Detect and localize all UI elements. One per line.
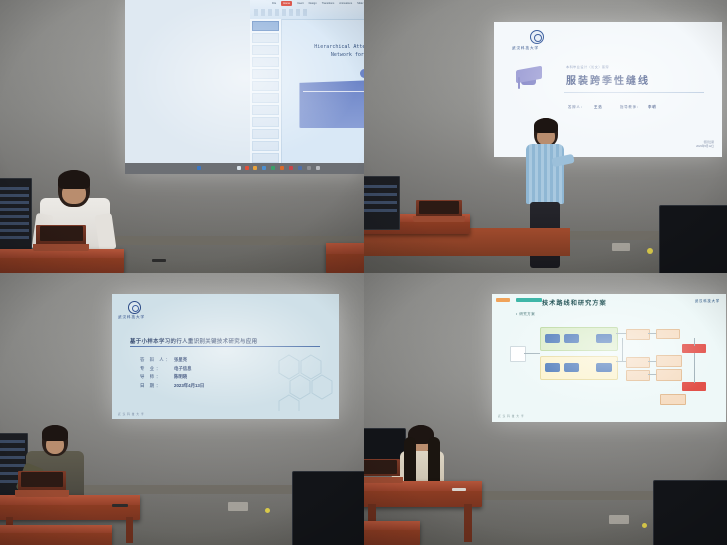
stage-group-green xyxy=(540,327,618,351)
laptop-base xyxy=(33,244,89,251)
phone-on-table xyxy=(452,488,466,491)
defense-title: 基于小样本学习的行人重识别关键技术研究与应用 xyxy=(130,337,257,345)
process-box xyxy=(626,329,650,340)
highlight-box xyxy=(682,382,706,391)
taskbar-icon-pdf[interactable] xyxy=(245,166,249,170)
projection-screen: 技术路线和研究方案 武汉科技大学 • 研究方案 xyxy=(492,294,726,422)
slide-thumbnail[interactable] xyxy=(252,45,279,55)
taskbar-icon-notes[interactable] xyxy=(316,166,320,170)
ribbon-command-icons[interactable] xyxy=(254,7,364,18)
flow-node xyxy=(596,363,612,372)
slide-thumbnail[interactable] xyxy=(252,129,279,139)
panel-top-left: File Home Insert Design Transitions Anim… xyxy=(0,0,364,273)
connector xyxy=(648,374,656,375)
open-book-graphic xyxy=(299,80,364,128)
dark-cabinet xyxy=(292,471,364,545)
phone-on-table xyxy=(152,259,166,262)
server-rack xyxy=(364,176,400,230)
hair xyxy=(534,118,558,133)
photo-grid: File Home Insert Design Transitions Anim… xyxy=(0,0,727,545)
process-box xyxy=(656,369,682,381)
hair xyxy=(42,425,68,441)
slide-thumbnail[interactable] xyxy=(252,57,279,67)
dark-cabinet xyxy=(653,480,727,545)
taskbar-icon-media[interactable] xyxy=(289,166,293,170)
head xyxy=(58,170,90,207)
process-box xyxy=(626,370,650,381)
field-date: 日 期：2023年4月13日 xyxy=(140,382,204,391)
field-value: 张星亮 xyxy=(174,357,187,362)
field-advisor: 导 师：陈明晓 xyxy=(140,373,204,382)
field-major: 专 业：电子信息 xyxy=(140,365,204,374)
slide-thumbnail-pane[interactable] xyxy=(250,19,282,164)
stage-group-yellow xyxy=(540,356,618,380)
slide-thumbnail[interactable] xyxy=(252,33,279,43)
flow-node xyxy=(545,334,560,343)
presenter-name: 王浩 xyxy=(594,104,602,109)
field-value: 2023年4月13日 xyxy=(174,383,204,388)
university-name: 武汉科技大学 xyxy=(695,298,720,303)
laptop xyxy=(36,225,86,251)
field-value: 陈明晓 xyxy=(174,374,187,379)
university-crest-icon xyxy=(530,30,544,44)
projection-screen: 武汉科技大学 基于小样本学习的行人重识别关键技术研究与应用 答 辩 人：张星亮 … xyxy=(112,294,339,419)
field-label: 日 期： xyxy=(140,382,174,391)
wall-socket xyxy=(609,515,629,524)
table-leg xyxy=(126,517,133,543)
slide-thumbnail[interactable] xyxy=(252,93,279,103)
torso-blue-striped-shirt xyxy=(526,144,564,204)
ribbon-icon-replace[interactable] xyxy=(303,9,307,16)
ribbon-tab-list: File Home Insert Design Transitions Anim… xyxy=(272,1,364,6)
ribbon-tab-animations[interactable]: Animations xyxy=(339,1,352,6)
wall-socket xyxy=(228,502,248,511)
laptop xyxy=(364,459,400,483)
taskbar-icon-wechat[interactable] xyxy=(298,166,302,170)
panel-bottom-right: 技术路线和研究方案 武汉科技大学 • 研究方案 xyxy=(364,273,727,545)
connector xyxy=(616,333,626,334)
flow-node xyxy=(564,363,579,372)
presenter-label: 答辩人： xyxy=(568,104,585,109)
slide-title: 技术路线和研究方案 xyxy=(542,298,607,307)
flow-node xyxy=(564,334,579,343)
wall-socket xyxy=(612,243,630,251)
slide-footer: 武汉科技大学 xyxy=(498,414,526,418)
connector xyxy=(616,361,626,362)
taskbar-icon-explorer[interactable] xyxy=(197,166,201,170)
defense-field-list: 答 辩 人：张星亮 专 业：电子信息 导 师：陈明晓 日 期：2023年4月13… xyxy=(140,356,204,390)
projection-screen: File Home Insert Design Transitions Anim… xyxy=(125,0,364,174)
laptop-lid xyxy=(364,459,400,476)
dark-cabinet xyxy=(659,205,727,273)
process-box xyxy=(626,357,650,368)
taskbar-icon-powerpoint[interactable] xyxy=(280,166,284,170)
ribbon-tab-design[interactable]: Design xyxy=(309,1,317,6)
slide-thumbnail[interactable] xyxy=(252,21,279,31)
slide-thumbnail[interactable] xyxy=(252,141,279,151)
ribbon-tab-insert[interactable]: Insert xyxy=(297,1,304,6)
process-box xyxy=(660,394,686,405)
ribbon-tab-transitions[interactable]: Transitions xyxy=(322,1,335,6)
ribbon-tab-file[interactable]: File xyxy=(272,1,276,6)
university-name: 武汉科技大学 xyxy=(118,315,145,320)
wooden-table-right xyxy=(326,243,364,273)
slide-subtitle: • 研究方案 xyxy=(516,311,535,316)
yellow-ball xyxy=(265,508,270,513)
yellow-ball xyxy=(647,248,653,254)
taskbar-icon-edge[interactable] xyxy=(237,166,241,170)
connector xyxy=(694,353,695,383)
book-page-left xyxy=(299,80,364,128)
hexagon-decoration xyxy=(267,351,337,411)
slide-thumbnail[interactable] xyxy=(252,81,279,91)
slide-title-line-1: Hierarchical Attention-based CNN-RNN Neu… xyxy=(301,43,364,51)
ribbon-icon-newslide[interactable] xyxy=(261,9,265,16)
process-box xyxy=(656,355,682,367)
laptop-lid xyxy=(18,471,66,490)
slide-date: 答辩日期 2023年5月12日 xyxy=(696,141,714,149)
slide-thumbnail[interactable] xyxy=(252,153,279,163)
laptop-lid xyxy=(36,225,86,244)
ribbon-icon-font[interactable] xyxy=(268,9,272,16)
field-label: 专 业： xyxy=(140,365,174,374)
phone-on-table xyxy=(112,504,128,507)
university-crest-icon xyxy=(128,301,141,314)
connector xyxy=(694,338,695,346)
flowchart-slide: 技术路线和研究方案 武汉科技大学 • 研究方案 xyxy=(492,294,726,422)
connector xyxy=(648,361,656,362)
arm-right xyxy=(95,213,117,251)
ribbon-tab-home[interactable]: Home xyxy=(281,1,292,6)
laptop-lid xyxy=(416,200,462,216)
ribbon-icon-shapes[interactable] xyxy=(282,9,286,16)
server-rack xyxy=(0,178,32,254)
field-presenter: 答 辩 人：张星亮 xyxy=(140,356,204,365)
slide-canvas: 武汉科技大学 Hierarchical Attention-based CNN-… xyxy=(282,21,364,162)
wooden-table-front xyxy=(0,525,112,545)
laptop-base xyxy=(364,477,403,483)
ribbon-icon-arrange[interactable] xyxy=(289,9,293,16)
wooden-table xyxy=(0,249,124,273)
ribbon-icon-paragraph[interactable] xyxy=(275,9,279,16)
panel-top-right: 武汉科技大学 本科毕业设计（论文）答辩 服装跨季性缝线 答辩人： 王浩 指导教师… xyxy=(364,0,727,273)
laptop-base xyxy=(15,490,69,497)
hair xyxy=(58,170,90,189)
head xyxy=(534,118,558,147)
university-name: 武汉科技大学 xyxy=(512,46,539,51)
connector xyxy=(524,353,540,354)
flow-node xyxy=(545,363,560,372)
advisor-name: 李明 xyxy=(648,104,656,109)
slide-date-value: 2023年5月12日 xyxy=(696,145,714,149)
yellow-ball xyxy=(642,523,647,528)
slide-main-title: 服装跨季性缝线 xyxy=(566,72,650,87)
flow-node xyxy=(596,334,612,343)
wooden-table xyxy=(0,495,140,520)
advisor-label: 指导教师： xyxy=(620,104,641,109)
connector xyxy=(622,338,623,362)
input-box xyxy=(510,346,526,362)
slide-title-line-2: Network for Automated ICD Coding xyxy=(301,51,364,59)
slide-footer: 武汉科技大学 xyxy=(118,412,146,416)
laptop-base xyxy=(413,216,465,222)
powerpoint-window: File Home Insert Design Transitions Anim… xyxy=(250,0,364,174)
slide-thumbnail[interactable] xyxy=(252,105,279,115)
windows-taskbar[interactable] xyxy=(125,163,364,174)
table-leg xyxy=(464,504,472,542)
laptop xyxy=(416,200,462,222)
ribbon-icon-find[interactable] xyxy=(296,9,300,16)
taskbar-icon-excel[interactable] xyxy=(271,166,275,170)
title-underline xyxy=(130,346,320,347)
field-value: 电子信息 xyxy=(174,366,192,371)
laptop xyxy=(18,471,66,497)
section-tag-bar xyxy=(496,298,544,303)
field-label: 答 辩 人： xyxy=(140,356,174,365)
field-label: 导 师： xyxy=(140,373,174,382)
slide-thumbnail[interactable] xyxy=(252,117,279,127)
connector xyxy=(648,333,656,334)
panel-bottom-left: 武汉科技大学 基于小样本学习的行人重识别关键技术研究与应用 答 辩 人：张星亮 … xyxy=(0,273,364,545)
taskbar-icon-folder[interactable] xyxy=(253,166,257,170)
slide-thumbnail[interactable] xyxy=(252,69,279,79)
ribbon-icon-paste[interactable] xyxy=(254,9,258,16)
head xyxy=(42,425,68,456)
process-box xyxy=(656,329,680,339)
ribbon-tab-slideshow[interactable]: Slide Show xyxy=(357,1,364,6)
taskbar-icon-word[interactable] xyxy=(262,166,266,170)
taskbar-icon-settings[interactable] xyxy=(307,166,311,170)
slide-subtitle: 本科毕业设计（论文）答辩 xyxy=(566,64,609,69)
wooden-table-front xyxy=(364,521,420,545)
defense-title-slide: 武汉科技大学 基于小样本学习的行人重识别关键技术研究与应用 答 辩 人：张星亮 … xyxy=(112,294,339,419)
slide-title: Hierarchical Attention-based CNN-RNN Neu… xyxy=(301,43,364,59)
